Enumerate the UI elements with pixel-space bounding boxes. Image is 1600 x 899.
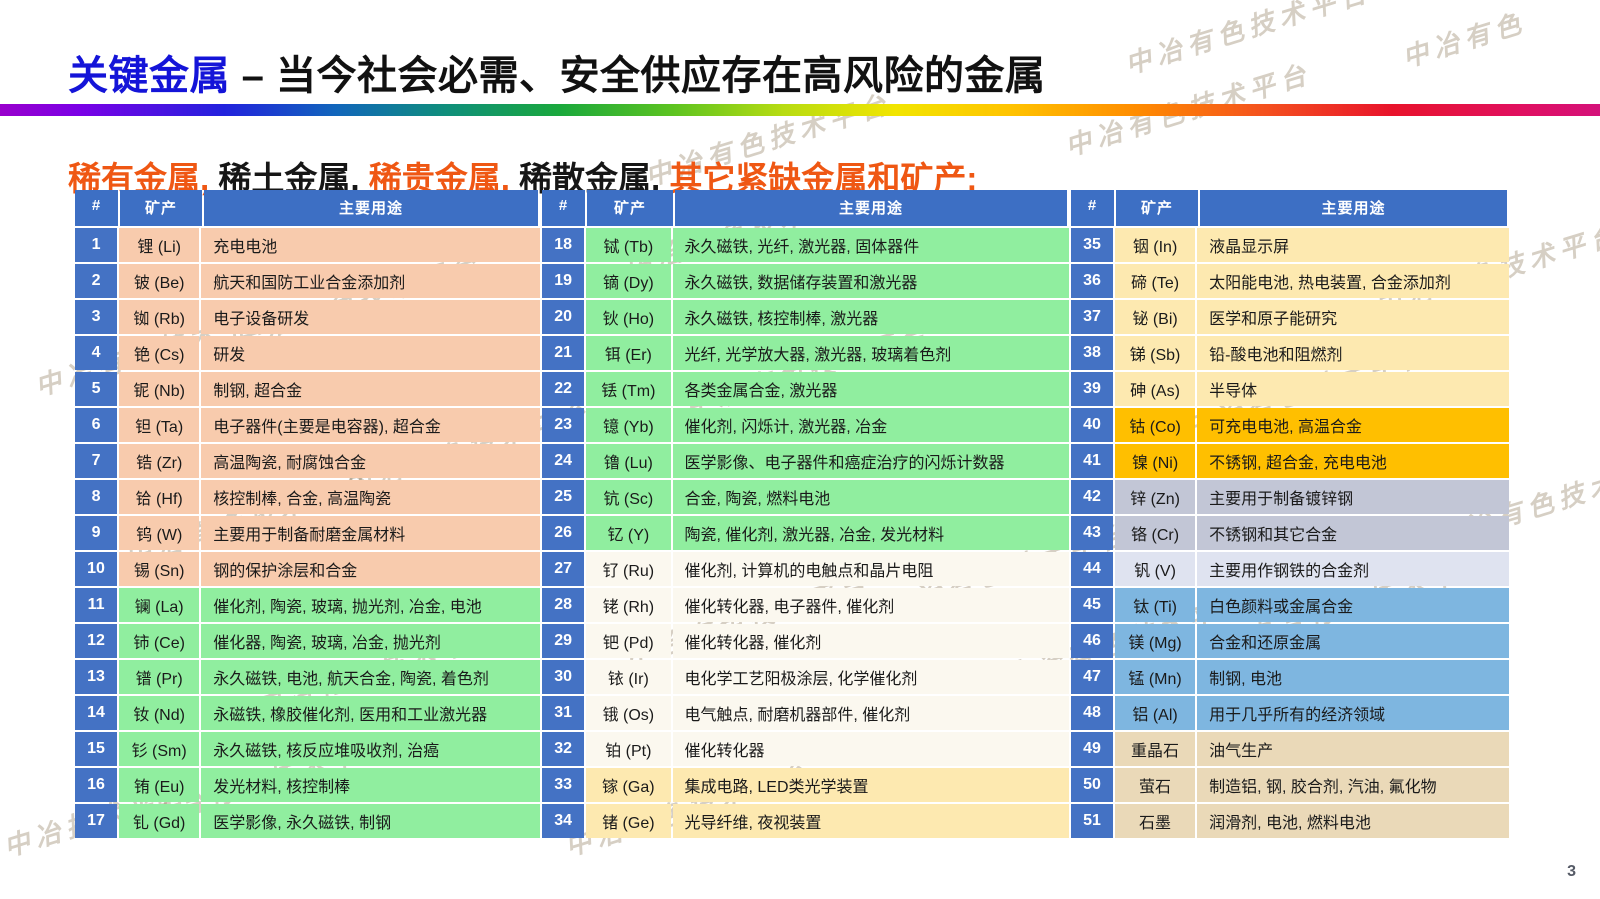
table-row: 13镨 (Pr)永久磁铁, 电池, 航天合金, 陶瓷, 着色剂: [75, 660, 540, 694]
row-index: 5: [75, 372, 117, 406]
watermark-text: 中冶有色技术平台: [1120, 0, 1376, 82]
row-use: 各类金属合金, 激光器: [673, 372, 1069, 406]
table-row: 14钕 (Nd)永磁铁, 橡胶催化剂, 医用和工业激光器: [75, 696, 540, 730]
row-mineral: 钪 (Sc): [586, 480, 670, 514]
column-header-mineral: 矿产: [587, 190, 673, 226]
row-mineral: 钴 (Co): [1115, 408, 1195, 442]
table-row: 48铝 (Al)用于几乎所有的经济领域: [1071, 696, 1509, 730]
page-number: 3: [1567, 863, 1576, 881]
row-use: 制钢, 超合金: [201, 372, 540, 406]
table-row: 18铽 (Tb)永久磁铁, 光纤, 激光器, 固体器件: [542, 228, 1069, 262]
row-index: 50: [1071, 768, 1113, 802]
row-index: 34: [542, 804, 584, 838]
row-use: 航天和国防工业合金添加剂: [201, 264, 540, 298]
table-row: 20钬 (Ho)永久磁铁, 核控制棒, 激光器: [542, 300, 1069, 334]
row-mineral: 碲 (Te): [1115, 264, 1195, 298]
table-row: 21铒 (Er)光纤, 光学放大器, 激光器, 玻璃着色剂: [542, 336, 1069, 370]
row-index: 47: [1071, 660, 1113, 694]
slide-title-rest: – 当今社会必需、安全供应存在高风险的金属: [230, 54, 1045, 98]
row-use: 制造铝, 钢, 胶合剂, 汽油, 氟化物: [1197, 768, 1509, 802]
row-mineral: 铷 (Rb): [119, 300, 199, 334]
row-mineral: 钇 (Y): [586, 516, 670, 550]
column-header-use: 主要用途: [675, 190, 1067, 226]
row-mineral: 钆 (Gd): [119, 804, 199, 838]
row-mineral: 锂 (Li): [119, 228, 199, 262]
table-row: 8铪 (Hf)核控制棒, 合金, 高温陶瓷: [75, 480, 540, 514]
row-use: 太阳能电池, 热电装置, 合金添加剂: [1197, 264, 1509, 298]
row-mineral: 锆 (Zr): [119, 444, 199, 478]
column-header-mineral: 矿产: [1116, 190, 1198, 226]
row-index: 21: [542, 336, 584, 370]
table-row: 42锌 (Zn)主要用于制备镀锌钢: [1071, 480, 1509, 514]
row-use: 永久磁铁, 核控制棒, 激光器: [673, 300, 1069, 334]
table-row: 23镱 (Yb)催化剂, 闪烁计, 激光器, 冶金: [542, 408, 1069, 442]
row-use: 半导体: [1197, 372, 1509, 406]
row-mineral: 铕 (Eu): [119, 768, 199, 802]
table-row: 51石墨润滑剂, 电池, 燃料电池: [1071, 804, 1509, 838]
row-index: 49: [1071, 732, 1113, 766]
row-use: 催化转化器, 电子器件, 催化剂: [673, 588, 1069, 622]
table-row: 24镥 (Lu)医学影像、电子器件和癌症治疗的闪烁计数器: [542, 444, 1069, 478]
row-use: 发光材料, 核控制棒: [201, 768, 540, 802]
row-mineral: 萤石: [1115, 768, 1195, 802]
table-row: 12铈 (Ce)催化器, 陶瓷, 玻璃, 冶金, 抛光剂: [75, 624, 540, 658]
row-use: 主要用于制备镀锌钢: [1197, 480, 1509, 514]
column-header-use: 主要用途: [1200, 190, 1507, 226]
row-index: 27: [542, 552, 584, 586]
row-use: 永久磁铁, 光纤, 激光器, 固体器件: [673, 228, 1069, 262]
row-mineral: 钒 (V): [1115, 552, 1195, 586]
row-mineral: 钽 (Ta): [119, 408, 199, 442]
row-mineral: 铍 (Be): [119, 264, 199, 298]
table-row: 2铍 (Be)航天和国防工业合金添加剂: [75, 264, 540, 298]
row-index: 45: [1071, 588, 1113, 622]
row-mineral: 铱 (Ir): [586, 660, 670, 694]
row-use: 电化学工艺阳极涂层, 化学催化剂: [673, 660, 1069, 694]
row-use: 集成电路, LED类光学装置: [673, 768, 1069, 802]
row-index: 37: [1071, 300, 1113, 334]
row-index: 6: [75, 408, 117, 442]
row-index: 48: [1071, 696, 1113, 730]
row-mineral: 铈 (Ce): [119, 624, 199, 658]
table-row: 37铋 (Bi)医学和原子能研究: [1071, 300, 1509, 334]
table-row: 19镝 (Dy)永久磁铁, 数据储存装置和激光器: [542, 264, 1069, 298]
table-row: 5铌 (Nb)制钢, 超合金: [75, 372, 540, 406]
row-index: 46: [1071, 624, 1113, 658]
row-use: 医学影像、电子器件和癌症治疗的闪烁计数器: [673, 444, 1069, 478]
row-mineral: 石墨: [1115, 804, 1195, 838]
row-mineral: 铝 (Al): [1115, 696, 1195, 730]
row-index: 42: [1071, 480, 1113, 514]
row-mineral: 镓 (Ga): [586, 768, 670, 802]
row-mineral: 钯 (Pd): [586, 624, 670, 658]
row-index: 33: [542, 768, 584, 802]
row-mineral: 锌 (Zn): [1115, 480, 1195, 514]
table-column-1: #矿产主要用途1锂 (Li)充电电池2铍 (Be)航天和国防工业合金添加剂3铷 …: [75, 190, 540, 838]
row-mineral: 铋 (Bi): [1115, 300, 1195, 334]
row-use: 不锈钢, 超合金, 充电电池: [1197, 444, 1509, 478]
row-index: 14: [75, 696, 117, 730]
table-row: 11镧 (La)催化剂, 陶瓷, 玻璃, 抛光剂, 冶金, 电池: [75, 588, 540, 622]
table-row: 27钌 (Ru)催化剂, 计算机的电触点和晶片电阻: [542, 552, 1069, 586]
table-row: 9钨 (W)主要用于制备耐磨金属材料: [75, 516, 540, 550]
row-index: 32: [542, 732, 584, 766]
row-mineral: 铟 (In): [1115, 228, 1195, 262]
watermark-text: 中冶有色: [1397, 2, 1530, 75]
table-row: 31锇 (Os)电气触点, 耐磨机器部件, 催化剂: [542, 696, 1069, 730]
column-header-mineral: 矿产: [120, 190, 202, 226]
row-use: 用于几乎所有的经济领域: [1197, 696, 1509, 730]
row-index: 38: [1071, 336, 1113, 370]
rainbow-divider: [0, 104, 1600, 116]
row-mineral: 铥 (Tm): [586, 372, 670, 406]
row-use: 研发: [201, 336, 540, 370]
row-index: 10: [75, 552, 117, 586]
row-index: 18: [542, 228, 584, 262]
table-row: 25钪 (Sc)合金, 陶瓷, 燃料电池: [542, 480, 1069, 514]
table-row: 3铷 (Rb)电子设备研发: [75, 300, 540, 334]
row-mineral: 镝 (Dy): [586, 264, 670, 298]
row-mineral: 铒 (Er): [586, 336, 670, 370]
row-mineral: 铯 (Cs): [119, 336, 199, 370]
row-mineral: 镨 (Pr): [119, 660, 199, 694]
row-index: 41: [1071, 444, 1113, 478]
row-mineral: 锰 (Mn): [1115, 660, 1195, 694]
table-header-row: #矿产主要用途: [542, 190, 1069, 226]
row-mineral: 钛 (Ti): [1115, 588, 1195, 622]
table-row: 15钐 (Sm)永久磁铁, 核反应堆吸收剂, 治癌: [75, 732, 540, 766]
row-use: 合金, 陶瓷, 燃料电池: [673, 480, 1069, 514]
row-mineral: 铂 (Pt): [586, 732, 670, 766]
row-index: 15: [75, 732, 117, 766]
row-index: 44: [1071, 552, 1113, 586]
table-row: 49重晶石油气生产: [1071, 732, 1509, 766]
row-mineral: 镥 (Lu): [586, 444, 670, 478]
row-index: 30: [542, 660, 584, 694]
row-index: 51: [1071, 804, 1113, 838]
row-mineral: 镱 (Yb): [586, 408, 670, 442]
row-use: 催化剂, 计算机的电触点和晶片电阻: [673, 552, 1069, 586]
table-row: 32铂 (Pt)催化转化器: [542, 732, 1069, 766]
row-use: 液晶显示屏: [1197, 228, 1509, 262]
row-mineral: 铌 (Nb): [119, 372, 199, 406]
row-use: 电子器件(主要是电容器), 超合金: [201, 408, 540, 442]
row-mineral: 砷 (As): [1115, 372, 1195, 406]
row-use: 主要用于制备耐磨金属材料: [201, 516, 540, 550]
table-row: 4铯 (Cs)研发: [75, 336, 540, 370]
row-use: 医学影像, 永久磁铁, 制钢: [201, 804, 540, 838]
table-header-row: #矿产主要用途: [75, 190, 540, 226]
table-row: 35铟 (In)液晶显示屏: [1071, 228, 1509, 262]
table-row: 39砷 (As)半导体: [1071, 372, 1509, 406]
column-header-number: #: [542, 190, 585, 226]
row-use: 电气触点, 耐磨机器部件, 催化剂: [673, 696, 1069, 730]
table-row: 45钛 (Ti)白色颜料或金属合金: [1071, 588, 1509, 622]
row-mineral: 铬 (Cr): [1115, 516, 1195, 550]
row-index: 22: [542, 372, 584, 406]
row-mineral: 重晶石: [1115, 732, 1195, 766]
table-row: 38锑 (Sb)铅-酸电池和阻燃剂: [1071, 336, 1509, 370]
table-row: 46镁 (Mg)合金和还原金属: [1071, 624, 1509, 658]
row-index: 16: [75, 768, 117, 802]
row-index: 36: [1071, 264, 1113, 298]
row-mineral: 锗 (Ge): [586, 804, 670, 838]
table-row: 26钇 (Y)陶瓷, 催化剂, 激光器, 冶金, 发光材料: [542, 516, 1069, 550]
row-index: 7: [75, 444, 117, 478]
row-use: 润滑剂, 电池, 燃料电池: [1197, 804, 1509, 838]
row-use: 医学和原子能研究: [1197, 300, 1509, 334]
table-row: 16铕 (Eu)发光材料, 核控制棒: [75, 768, 540, 802]
row-use: 钢的保护涂层和合金: [201, 552, 540, 586]
row-index: 35: [1071, 228, 1113, 262]
row-mineral: 钐 (Sm): [119, 732, 199, 766]
table-row: 1锂 (Li)充电电池: [75, 228, 540, 262]
row-index: 39: [1071, 372, 1113, 406]
row-use: 永磁铁, 橡胶催化剂, 医用和工业激光器: [201, 696, 540, 730]
row-mineral: 锇 (Os): [586, 696, 670, 730]
row-use: 主要用作钢铁的合金剂: [1197, 552, 1509, 586]
row-index: 23: [542, 408, 584, 442]
row-index: 17: [75, 804, 117, 838]
row-index: 11: [75, 588, 117, 622]
row-index: 28: [542, 588, 584, 622]
table-row: 28铑 (Rh)催化转化器, 电子器件, 催化剂: [542, 588, 1069, 622]
row-index: 1: [75, 228, 117, 262]
table-row: 47锰 (Mn)制钢, 电池: [1071, 660, 1509, 694]
column-header-use: 主要用途: [204, 190, 538, 226]
row-use: 光导纤维, 夜视装置: [673, 804, 1069, 838]
row-use: 油气生产: [1197, 732, 1509, 766]
row-use: 核控制棒, 合金, 高温陶瓷: [201, 480, 540, 514]
table-row: 29钯 (Pd)催化转化器, 催化剂: [542, 624, 1069, 658]
table-row: 17钆 (Gd)医学影像, 永久磁铁, 制钢: [75, 804, 540, 838]
row-use: 电子设备研发: [201, 300, 540, 334]
column-header-number: #: [1071, 190, 1114, 226]
row-mineral: 镧 (La): [119, 588, 199, 622]
row-mineral: 铪 (Hf): [119, 480, 199, 514]
table-row: 43铬 (Cr)不锈钢和其它合金: [1071, 516, 1509, 550]
slide-title-accent: 关键金属: [68, 54, 230, 98]
row-mineral: 铑 (Rh): [586, 588, 670, 622]
row-index: 25: [542, 480, 584, 514]
row-use: 永久磁铁, 核反应堆吸收剂, 治癌: [201, 732, 540, 766]
row-use: 可充电电池, 高温合金: [1197, 408, 1509, 442]
table-row: 36碲 (Te)太阳能电池, 热电装置, 合金添加剂: [1071, 264, 1509, 298]
row-use: 永久磁铁, 数据储存装置和激光器: [673, 264, 1069, 298]
row-mineral: 钨 (W): [119, 516, 199, 550]
row-use: 充电电池: [201, 228, 540, 262]
table-row: 10锡 (Sn)钢的保护涂层和合金: [75, 552, 540, 586]
table-row: 44钒 (V)主要用作钢铁的合金剂: [1071, 552, 1509, 586]
row-use: 催化器, 陶瓷, 玻璃, 冶金, 抛光剂: [201, 624, 540, 658]
table-column-3: #矿产主要用途35铟 (In)液晶显示屏36碲 (Te)太阳能电池, 热电装置,…: [1071, 190, 1509, 838]
row-mineral: 锡 (Sn): [119, 552, 199, 586]
row-mineral: 铽 (Tb): [586, 228, 670, 262]
row-index: 24: [542, 444, 584, 478]
row-index: 26: [542, 516, 584, 550]
row-use: 高温陶瓷, 耐腐蚀合金: [201, 444, 540, 478]
row-index: 43: [1071, 516, 1113, 550]
row-use: 光纤, 光学放大器, 激光器, 玻璃着色剂: [673, 336, 1069, 370]
row-mineral: 钌 (Ru): [586, 552, 670, 586]
row-use: 永久磁铁, 电池, 航天合金, 陶瓷, 着色剂: [201, 660, 540, 694]
row-mineral: 镁 (Mg): [1115, 624, 1195, 658]
row-index: 40: [1071, 408, 1113, 442]
row-index: 2: [75, 264, 117, 298]
row-mineral: 钕 (Nd): [119, 696, 199, 730]
row-use: 催化剂, 闪烁计, 激光器, 冶金: [673, 408, 1069, 442]
row-use: 制钢, 电池: [1197, 660, 1509, 694]
table-row: 7锆 (Zr)高温陶瓷, 耐腐蚀合金: [75, 444, 540, 478]
column-header-number: #: [75, 190, 118, 226]
table-header-row: #矿产主要用途: [1071, 190, 1509, 226]
critical-metals-table: #矿产主要用途1锂 (Li)充电电池2铍 (Be)航天和国防工业合金添加剂3铷 …: [75, 190, 1509, 838]
row-use: 不锈钢和其它合金: [1197, 516, 1509, 550]
row-use: 白色颜料或金属合金: [1197, 588, 1509, 622]
slide-title: 关键金属 – 当今社会必需、安全供应存在高风险的金属: [68, 53, 1045, 99]
table-column-2: #矿产主要用途18铽 (Tb)永久磁铁, 光纤, 激光器, 固体器件19镝 (D…: [542, 190, 1069, 838]
row-index: 29: [542, 624, 584, 658]
row-index: 9: [75, 516, 117, 550]
row-mineral: 锑 (Sb): [1115, 336, 1195, 370]
row-index: 3: [75, 300, 117, 334]
table-row: 22铥 (Tm)各类金属合金, 激光器: [542, 372, 1069, 406]
table-row: 33镓 (Ga)集成电路, LED类光学装置: [542, 768, 1069, 802]
row-use: 催化转化器, 催化剂: [673, 624, 1069, 658]
table-row: 34锗 (Ge)光导纤维, 夜视装置: [542, 804, 1069, 838]
row-use: 合金和还原金属: [1197, 624, 1509, 658]
row-mineral: 镍 (Ni): [1115, 444, 1195, 478]
row-use: 铅-酸电池和阻燃剂: [1197, 336, 1509, 370]
table-row: 30铱 (Ir)电化学工艺阳极涂层, 化学催化剂: [542, 660, 1069, 694]
row-index: 8: [75, 480, 117, 514]
row-index: 31: [542, 696, 584, 730]
table-row: 6钽 (Ta)电子器件(主要是电容器), 超合金: [75, 408, 540, 442]
row-index: 4: [75, 336, 117, 370]
row-use: 陶瓷, 催化剂, 激光器, 冶金, 发光材料: [673, 516, 1069, 550]
table-row: 50萤石制造铝, 钢, 胶合剂, 汽油, 氟化物: [1071, 768, 1509, 802]
table-row: 40钴 (Co)可充电电池, 高温合金: [1071, 408, 1509, 442]
row-use: 催化剂, 陶瓷, 玻璃, 抛光剂, 冶金, 电池: [201, 588, 540, 622]
table-row: 41镍 (Ni)不锈钢, 超合金, 充电电池: [1071, 444, 1509, 478]
row-index: 12: [75, 624, 117, 658]
row-use: 催化转化器: [673, 732, 1069, 766]
row-index: 20: [542, 300, 584, 334]
row-mineral: 钬 (Ho): [586, 300, 670, 334]
row-index: 13: [75, 660, 117, 694]
row-index: 19: [542, 264, 584, 298]
